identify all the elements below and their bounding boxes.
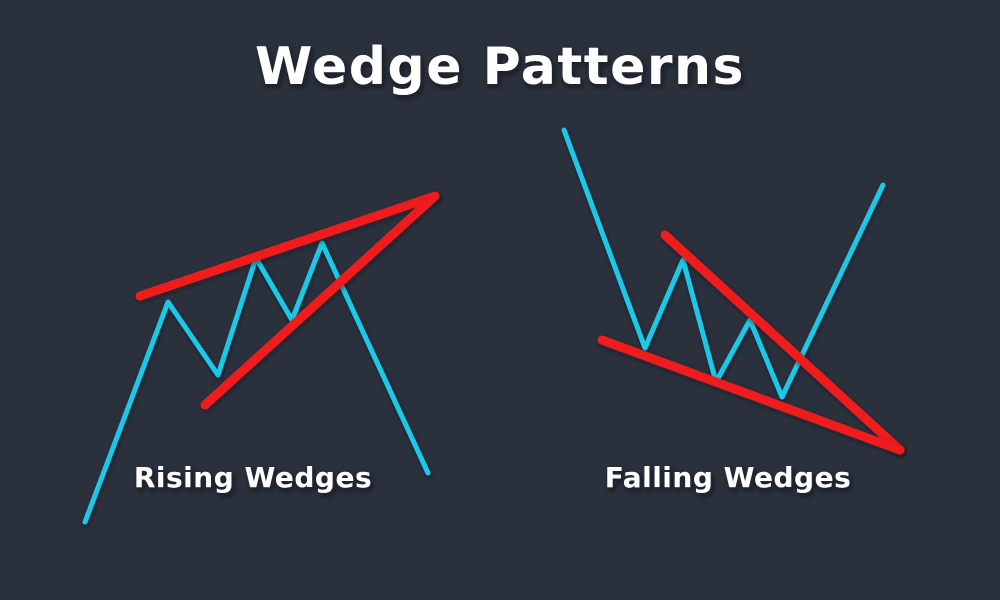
rising-wedge-label: Rising Wedges <box>134 461 372 494</box>
page-title: Wedge Patterns <box>255 37 745 97</box>
wedge-patterns-diagram: Wedge Patterns Rising Wedges Falling Wed… <box>0 0 1000 600</box>
wedge-patterns-infographic: Wedge Patterns Rising Wedges Falling Wed… <box>0 0 1000 600</box>
falling-wedge-label: Falling Wedges <box>605 461 852 494</box>
